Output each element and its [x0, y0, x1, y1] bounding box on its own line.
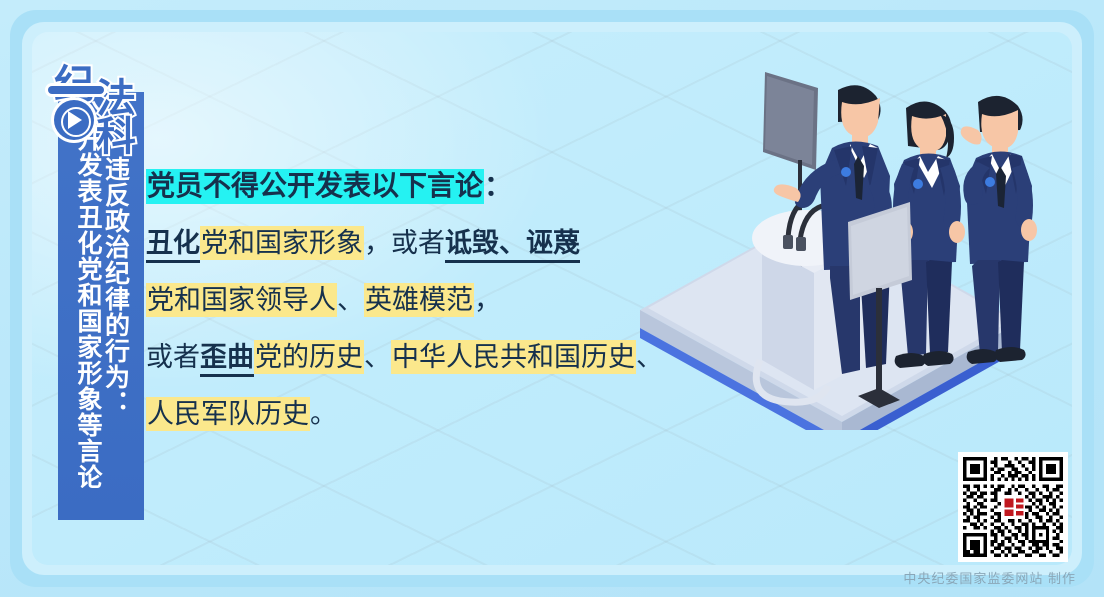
- line1-tail: ：: [484, 171, 512, 202]
- line2-highlight: 党和国家形象: [200, 226, 364, 260]
- text-line-2: 丑化党和国家形象，或者诋毁、诬蔑: [146, 215, 746, 272]
- line4-underline-waiqu: 歪曲: [200, 342, 254, 377]
- line2-plain: ，或者: [364, 228, 445, 258]
- play-circle-icon: [54, 100, 94, 140]
- line3-plain-2: ，: [474, 285, 501, 315]
- text-line-3: 党和国家领导人、英雄模范，: [146, 272, 746, 329]
- line5-plain: 。: [310, 399, 337, 429]
- jifa-baike-logo[interactable]: 纪 法 科: [52, 52, 160, 148]
- logo-bai-bar: [48, 86, 104, 94]
- main-text-block: 党员不得公开发表以下言论： 丑化党和国家形象，或者诋毁、诬蔑 党和国家领导人、英…: [146, 158, 746, 443]
- line3-highlight-leaders: 党和国家领导人: [146, 283, 337, 317]
- line4-plain-2: 、: [364, 342, 391, 372]
- line4-plain-1: 或者: [146, 342, 200, 372]
- line4-plain-3: 、: [636, 342, 663, 372]
- logo-char-ke: 科: [96, 104, 136, 162]
- poster-canvas: 违反政治纪律的行为： 公开发表丑化党和国家形象等言论 纪 法 科 党员不得公开发…: [0, 0, 1104, 597]
- line2-underline-digui: 诋毁、诬蔑: [445, 228, 580, 263]
- line4-highlight-prc-history: 中华人民共和国历史: [391, 340, 636, 374]
- text-line-5: 人民军队历史。: [146, 386, 746, 443]
- line4-highlight-party-history: 党的历史: [254, 340, 364, 374]
- qr-code[interactable]: [958, 452, 1068, 562]
- line1-highlight: 党员不得公开发表以下言论: [146, 169, 484, 204]
- credit-text: 中央纪委国家监委网站 制作: [903, 568, 1076, 587]
- logo-char-bai: [52, 86, 96, 136]
- line3-plain-1: 、: [337, 285, 364, 315]
- line5-highlight-army-history: 人民军队历史: [146, 397, 310, 431]
- line2-underline-chouhua: 丑化: [146, 228, 200, 263]
- qr-cells: [963, 457, 1063, 557]
- line3-highlight-heroes: 英雄模范: [364, 283, 474, 317]
- text-line-4: 或者歪曲党的历史、中华人民共和国历史、: [146, 329, 746, 386]
- text-line-1: 党员不得公开发表以下言论：: [146, 158, 746, 215]
